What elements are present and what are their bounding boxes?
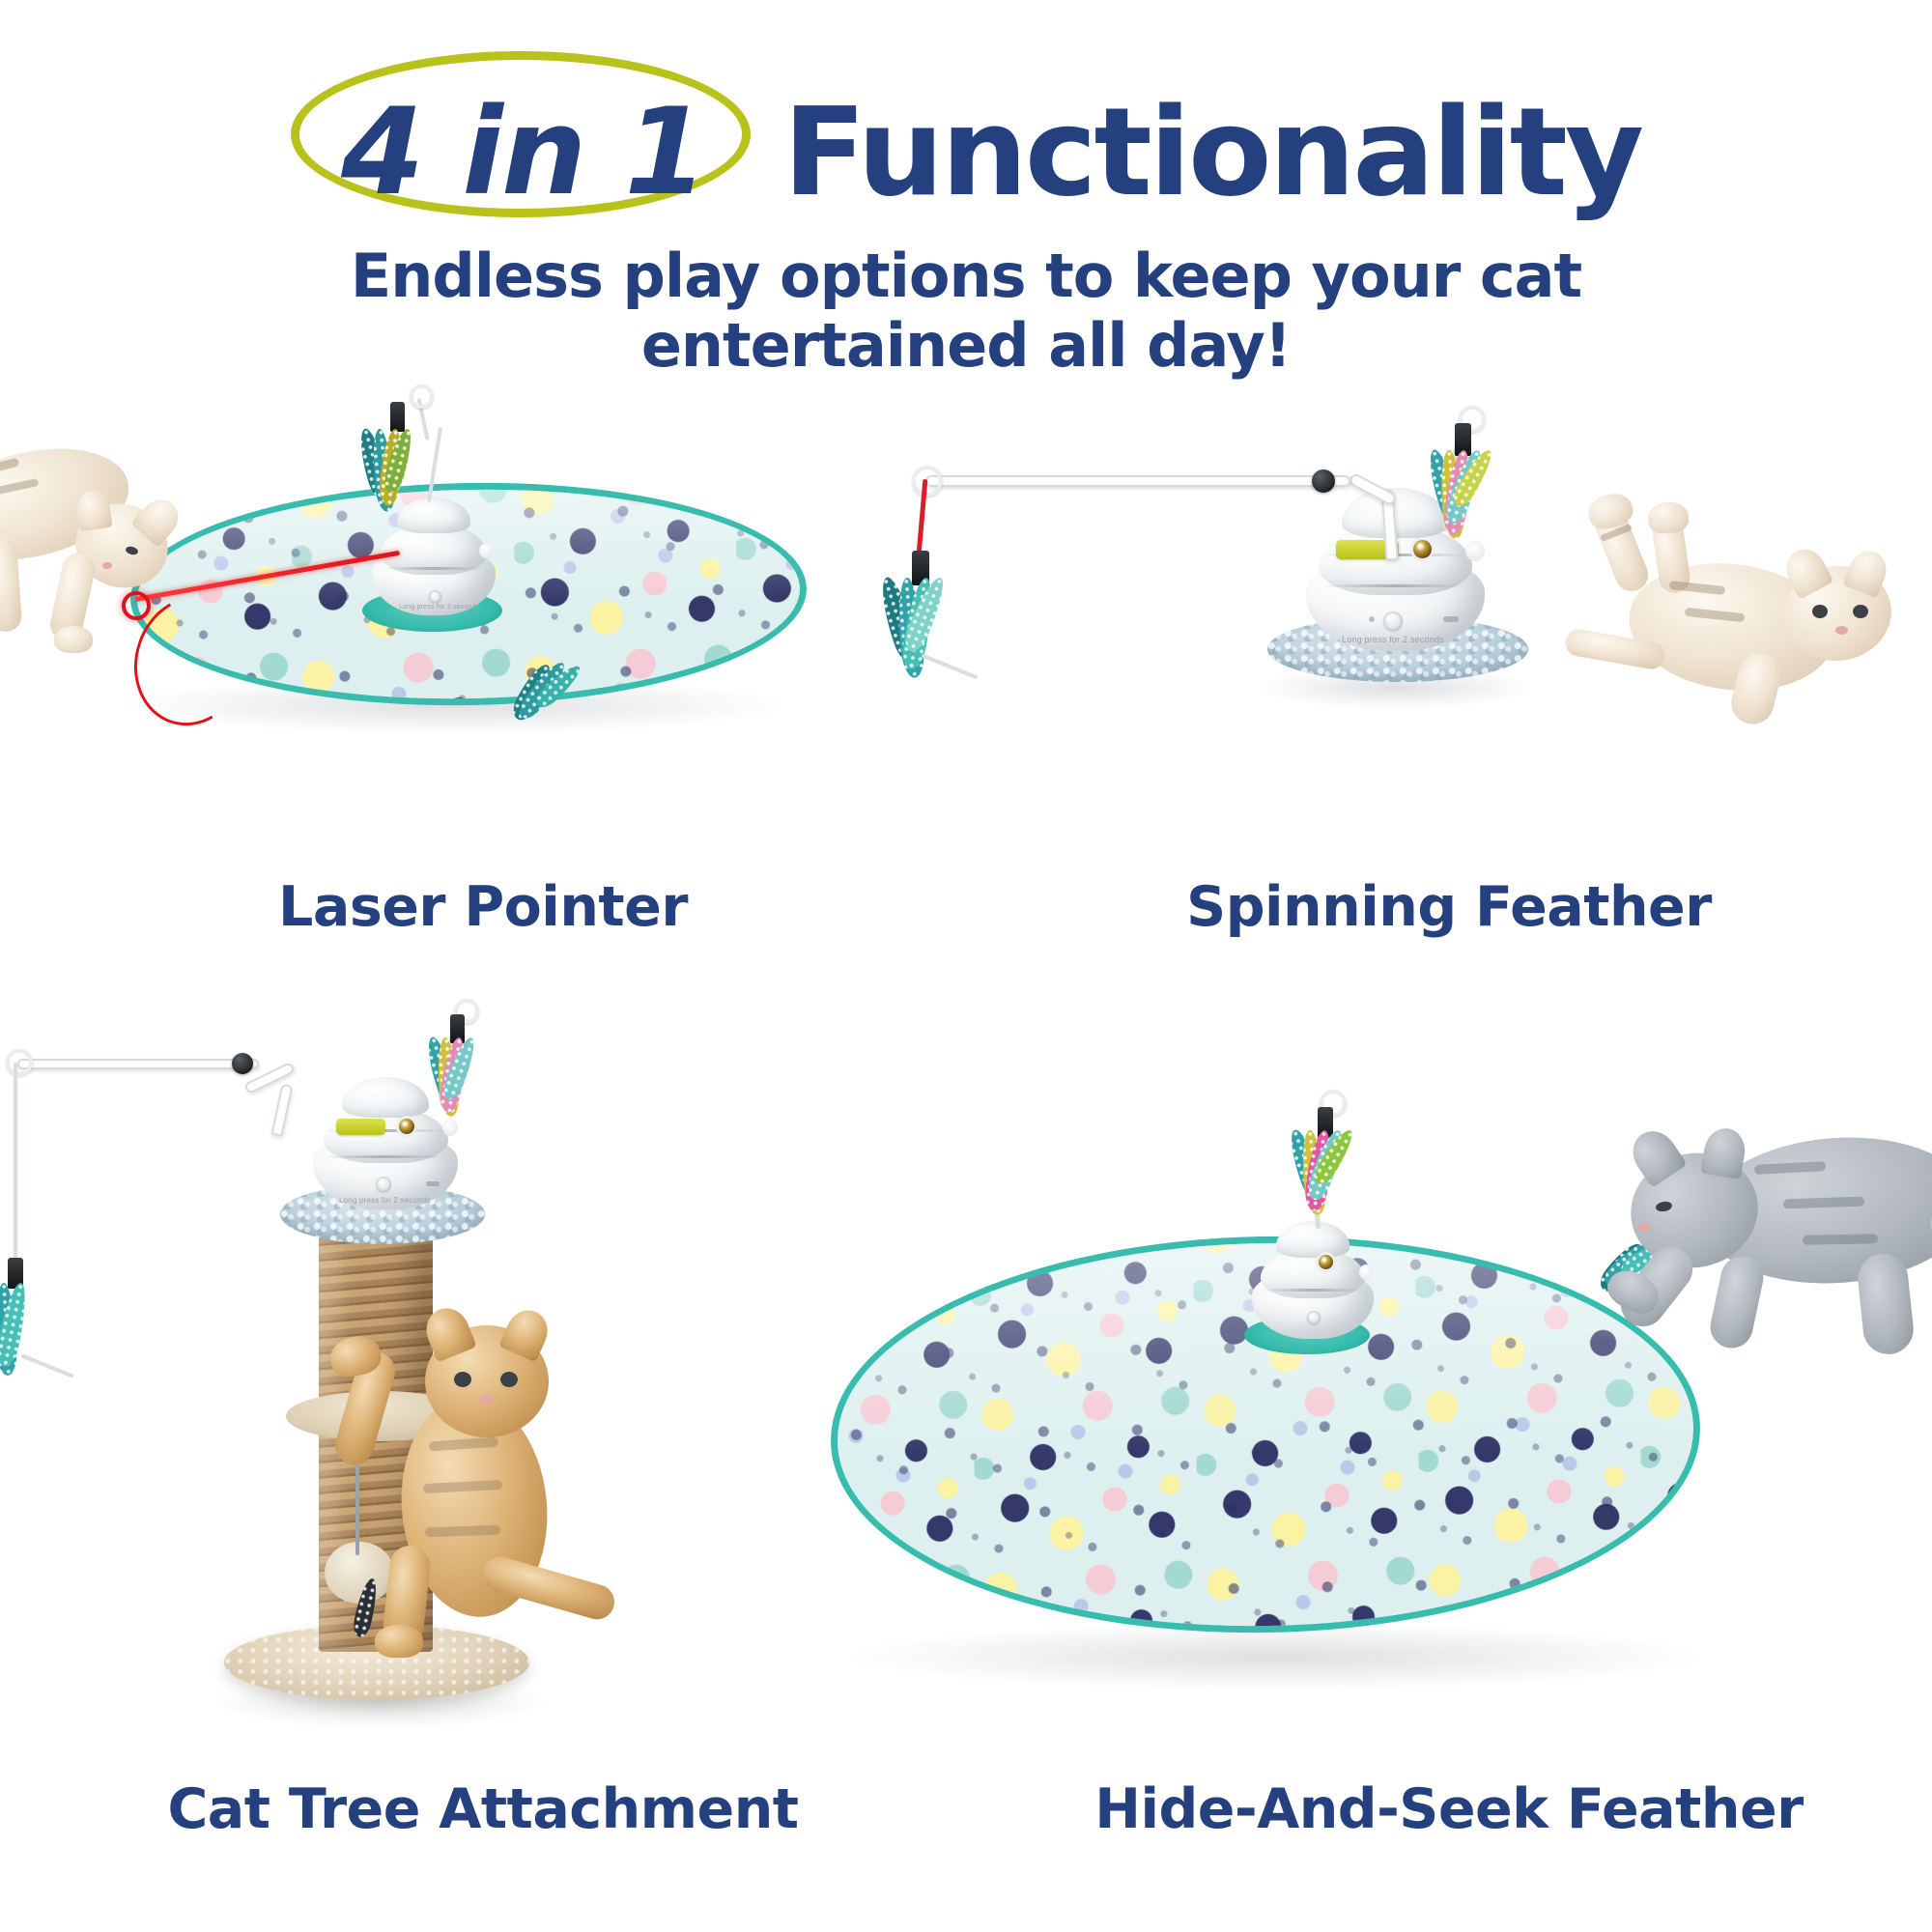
laser-pointer-illustration: Long press for 2 seconds <box>0 406 966 869</box>
warning-label <box>336 1119 385 1135</box>
wand-tip-ring-icon <box>410 384 434 409</box>
device-side-nub <box>479 543 493 558</box>
device-top-cap <box>397 497 471 534</box>
cat-eye <box>1853 605 1868 618</box>
subtitle-line-1: Endless play options to keep your cat <box>241 241 1690 311</box>
device-side-nub <box>1359 1264 1373 1280</box>
cat-ginger-kitten <box>369 1312 639 1660</box>
device-top-cap <box>1276 1221 1350 1257</box>
mat-shadow <box>840 1623 1710 1690</box>
cat-eye <box>1812 605 1828 618</box>
arm-joint <box>1312 469 1335 493</box>
device-seam <box>1260 1289 1367 1292</box>
device-top-cap <box>342 1077 429 1118</box>
infographic-canvas: 4 in 1 Functionality Endless play option… <box>0 0 1932 1932</box>
cat-nose <box>102 562 112 569</box>
cat-eye <box>500 1372 518 1387</box>
subtitle: Endless play options to keep your cat en… <box>241 241 1690 381</box>
page-title: 4 in 1 Functionality <box>0 75 1932 230</box>
cat-nose <box>479 1395 493 1405</box>
arm-vertical <box>271 1083 294 1136</box>
feature-label-laser-pointer: Laser Pointer <box>0 875 966 939</box>
cat-nose <box>1638 1223 1651 1232</box>
cat-nose <box>1835 626 1848 635</box>
device-instruction-text: Long press for 2 seconds <box>1342 635 1444 644</box>
cat-paw <box>1647 501 1690 535</box>
device-vent <box>426 1181 440 1186</box>
device-indicator-dot <box>1369 616 1375 622</box>
spinning-feather-illustration: Long press for 2 seconds <box>966 406 1932 869</box>
device-power-button[interactable] <box>429 590 441 603</box>
device-seam <box>380 567 489 570</box>
device-side-nub <box>1465 540 1485 561</box>
cat-front-leg <box>1707 1252 1768 1351</box>
feature-label-spinning-feather: Spinning Feather <box>966 875 1932 939</box>
cat-tail <box>479 1552 618 1623</box>
feather-cap <box>390 402 405 432</box>
hide-and-seek-illustration <box>966 1005 1932 1739</box>
cat-gray-kitten <box>1584 1082 1932 1401</box>
four-in-one-badge: 4 in 1 <box>291 80 751 225</box>
laser-lens <box>1413 540 1432 558</box>
title-text: Functionality <box>783 80 1641 225</box>
cat-paw <box>54 626 93 653</box>
robot-device <box>1252 1219 1374 1339</box>
device-power-button[interactable] <box>376 1177 391 1192</box>
cat-cream-tabby <box>0 415 251 686</box>
feature-card-cat-tree-attachment: Long press for 2 seconds <box>0 1005 966 1855</box>
cat-paw <box>375 1625 423 1658</box>
device-instruction-text: Long press for 2 seconds <box>339 1196 431 1205</box>
laser-lens <box>399 1119 414 1134</box>
feature-label-hide-and-seek-feather: Hide-And-Seek Feather <box>966 1777 1932 1841</box>
cat-tree-illustration: Long press for 2 seconds <box>0 1005 966 1739</box>
arm-horizontal <box>925 475 1350 487</box>
feature-label-cat-tree-attachment: Cat Tree Attachment <box>0 1777 966 1841</box>
feature-card-laser-pointer: Long press for 2 seconds <box>0 406 966 985</box>
badge-label: 4 in 1 <box>341 80 706 225</box>
cat-rolling-kitten <box>1555 491 1932 742</box>
device-power-button[interactable] <box>1383 611 1403 631</box>
subtitle-line-2: entertained all day! <box>241 311 1690 381</box>
device-seam <box>322 1155 449 1158</box>
feature-card-spinning-feather: Long press for 2 seconds <box>966 406 1932 985</box>
device-instruction-text: Long press for 2 seconds <box>399 604 479 611</box>
cat-eye <box>454 1372 471 1387</box>
feather-quill <box>20 1353 73 1378</box>
cat-ear <box>1700 1125 1748 1180</box>
arm-tip-ring-icon <box>6 1049 33 1076</box>
feature-card-hide-and-seek-feather: Hide-And-Seek Feather <box>966 1005 1932 1855</box>
cat-stripe <box>1803 1234 1878 1244</box>
robot-device: Long press for 2 seconds <box>313 1074 458 1209</box>
device-vent <box>1443 616 1459 622</box>
device-side-nub <box>442 1119 459 1136</box>
arm-joint <box>232 1053 253 1074</box>
hanging-string <box>14 1063 17 1264</box>
arm-horizontal <box>17 1059 259 1069</box>
